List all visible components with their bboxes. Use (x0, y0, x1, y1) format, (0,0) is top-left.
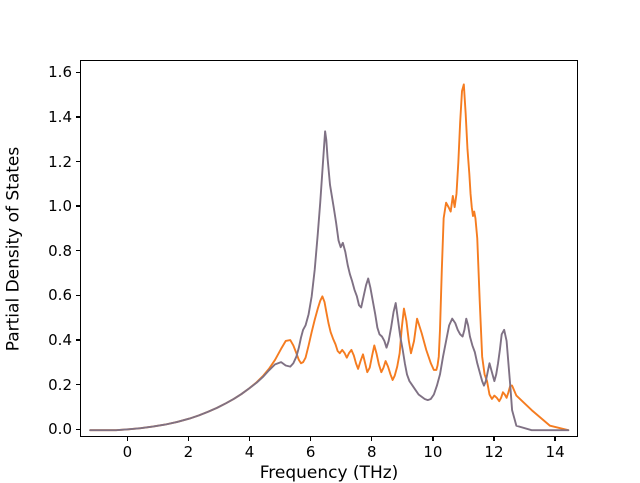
series-layer (90, 84, 568, 430)
y-tick-label: 0.6 (48, 286, 72, 304)
y-tick-mark (76, 72, 80, 73)
y-tick-label: 0.8 (48, 242, 72, 260)
x-tick-mark (371, 437, 372, 441)
x-tick-mark (249, 437, 250, 441)
x-axis-title: Frequency (THz) (80, 464, 578, 483)
y-tick-label: 1.2 (48, 153, 72, 171)
y-tick-mark (76, 250, 80, 251)
x-tick-mark (310, 437, 311, 441)
y-tick-mark (76, 116, 80, 117)
y-axis-title: Partial Density of States (0, 60, 26, 437)
y-tick-label: 1.4 (48, 108, 72, 126)
y-tick-mark (76, 161, 80, 162)
x-tick-mark (493, 437, 494, 441)
y-tick-mark (76, 205, 80, 206)
x-tick-label: 2 (184, 443, 194, 461)
x-tick-label: 0 (123, 443, 133, 461)
x-tick-mark (127, 437, 128, 441)
x-tick-mark (432, 437, 433, 441)
y-tick-mark (76, 384, 80, 385)
y-tick-label: 1.0 (48, 197, 72, 215)
y-tick-label: 0.4 (48, 331, 72, 349)
x-tick-mark (188, 437, 189, 441)
y-tick-label: 0.2 (48, 376, 72, 394)
x-tick-label: 10 (423, 443, 442, 461)
y-tick-mark (76, 295, 80, 296)
chart-canvas (81, 61, 579, 438)
line-series-orange (90, 84, 568, 430)
x-tick-label: 4 (245, 443, 255, 461)
y-tick-mark (76, 429, 80, 430)
y-tick-label: 1.6 (48, 63, 72, 81)
figure: Partial Density of States 024681012140.0… (0, 0, 640, 480)
line-series-grey (90, 131, 568, 430)
x-tick-label: 8 (367, 443, 377, 461)
y-tick-label: 0.0 (48, 420, 72, 438)
y-tick-mark (76, 339, 80, 340)
plot-area (80, 60, 578, 437)
y-axis-title-text: Partial Density of States (3, 146, 23, 351)
x-tick-mark (554, 437, 555, 441)
x-tick-label: 14 (546, 443, 565, 461)
x-tick-label: 6 (306, 443, 316, 461)
x-tick-label: 12 (484, 443, 503, 461)
